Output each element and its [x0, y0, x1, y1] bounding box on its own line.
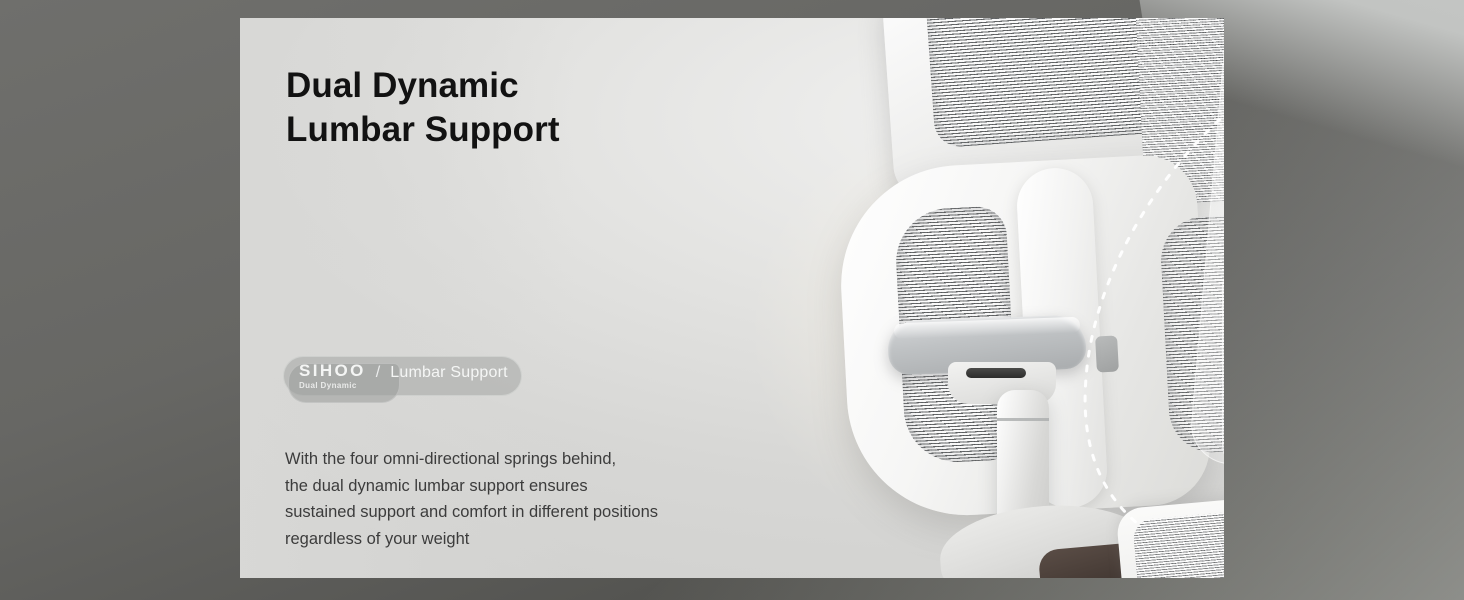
armrest-post-ring — [997, 418, 1049, 421]
badge-separator: / — [376, 364, 380, 382]
armrest-adjust-slot — [966, 368, 1026, 378]
armrest-pad-highlight — [894, 317, 1080, 339]
backrest-right-mesh-panel — [1135, 18, 1224, 205]
seat-shadow — [1038, 533, 1224, 578]
badge-label: Lumbar Support — [390, 364, 508, 382]
armrest-pad — [887, 315, 1087, 376]
page-title: Dual Dynamic Lumbar Support — [286, 64, 560, 152]
backrest-top-mesh — [925, 18, 1224, 148]
lumbar-mesh-pad-right — [1159, 213, 1224, 454]
badge-brand-subtitle: Dual Dynamic — [299, 382, 366, 390]
badge-content: SIHOO Dual Dynamic / Lumbar Support — [284, 362, 521, 390]
sihoo-logo-text: SIHOO — [299, 362, 366, 379]
armrest-post — [997, 390, 1049, 578]
feature-badge: SIHOO Dual Dynamic / Lumbar Support — [283, 356, 522, 396]
banner-backdrop: Dual Dynamic Lumbar Support SIHOO Dual D… — [0, 0, 1464, 600]
panel-warm-glow — [752, 119, 1172, 539]
backrest-top-frame — [881, 18, 1224, 201]
flex-motion-ghost-sheet — [1188, 18, 1224, 474]
seat-mesh — [1132, 488, 1224, 578]
seat-frame — [1116, 475, 1224, 578]
armrest-bracket — [948, 362, 1056, 404]
product-feature-panel: Dual Dynamic Lumbar Support SIHOO Dual D… — [240, 18, 1224, 578]
badge-brand-block: SIHOO Dual Dynamic — [299, 362, 366, 390]
armrest-base — [937, 499, 1155, 578]
lumbar-adjust-tab — [1095, 335, 1119, 372]
lumbar-support-shell — [835, 153, 1213, 521]
motion-path-dotted-arc — [1020, 78, 1224, 528]
feature-description: With the four omni-directional springs b… — [285, 446, 658, 553]
lumbar-mesh-pad-left — [893, 205, 1018, 465]
lumbar-center-rib — [1015, 166, 1109, 510]
spring-cover-plate — [1222, 268, 1224, 464]
